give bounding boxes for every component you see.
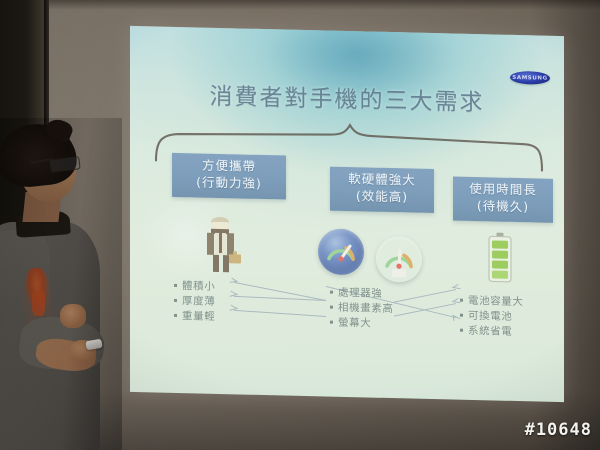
heading-line2: (效能高) <box>330 187 434 206</box>
bullet-column-performance: 處理器強 相機畫素高 螢幕大 <box>330 286 394 332</box>
photo-scene: SAMSUNG 消費者對手機的三大需求 方便攜帶 (行動力強) 軟硬體強大 (效… <box>0 0 600 450</box>
bullet-column-battery-life: 電池容量大 可換電池 系統省電 <box>460 294 524 340</box>
businessman-briefcase-icon <box>198 215 244 274</box>
bullet-dot-icon <box>174 299 177 302</box>
bullet-text: 系統省電 <box>468 325 512 338</box>
samsung-logo: SAMSUNG <box>510 71 550 85</box>
bullet-dot-icon <box>460 299 463 302</box>
presentation-slide: SAMSUNG 消費者對手機的三大需求 方便攜帶 (行動力強) 軟硬體強大 (效… <box>130 26 564 402</box>
bullet-text: 可換電池 <box>468 310 512 323</box>
bullet-dot-icon <box>174 314 177 317</box>
list-item: 體積小 <box>174 279 215 295</box>
bullet-column-portability: 體積小 厚度薄 重量輕 <box>174 279 215 325</box>
ceiling-shadow-band <box>48 0 600 10</box>
list-item: 系統省電 <box>460 324 524 340</box>
bullet-dot-icon <box>330 291 333 294</box>
presenter <box>0 118 122 450</box>
presenter-fist <box>60 304 86 328</box>
samsung-logo-text: SAMSUNG <box>512 75 547 82</box>
gauge-icon-blue <box>318 228 364 275</box>
bullet-dot-icon <box>330 306 333 309</box>
bullet-text: 螢幕大 <box>338 317 371 330</box>
list-item: 處理器強 <box>330 286 394 302</box>
bullet-dot-icon <box>174 284 177 287</box>
heading-line2: (行動力強) <box>172 173 286 192</box>
projection-screen: SAMSUNG 消費者對手機的三大需求 方便攜帶 (行動力強) 軟硬體強大 (效… <box>130 26 564 402</box>
list-item: 可換電池 <box>460 309 524 325</box>
bullet-dot-icon <box>460 314 463 317</box>
dual-gauge-icon <box>310 228 435 283</box>
bullet-row: 體積小 厚度薄 重量輕 處理器強 相機畫素高 螢幕大 電池容量大 可換電池 系統… <box>130 276 564 338</box>
heading-line2: (待機久) <box>453 197 553 216</box>
bullet-text: 重量輕 <box>182 310 215 323</box>
bullet-dot-icon <box>460 329 463 332</box>
gauge-icon-purple <box>376 236 422 283</box>
list-item: 電池容量大 <box>460 294 524 310</box>
bullet-text: 相機畫素高 <box>338 302 394 315</box>
list-item: 相機畫素高 <box>330 301 394 317</box>
list-item: 重量輕 <box>174 309 215 325</box>
bullet-text: 處理器強 <box>338 287 382 300</box>
bullet-dot-icon <box>330 321 333 324</box>
list-item: 厚度薄 <box>174 294 215 310</box>
icon-row <box>130 208 564 284</box>
heading-box-portability[interactable]: 方便攜帶 (行動力強) <box>172 153 286 200</box>
bullet-text: 厚度薄 <box>182 295 215 308</box>
list-item: 螢幕大 <box>330 316 394 332</box>
bullet-text: 體積小 <box>182 280 215 293</box>
image-watermark: #10648 <box>525 420 592 440</box>
presenter-shirt-graphic-detail <box>32 290 45 316</box>
bullet-text: 電池容量大 <box>468 295 524 308</box>
slide-title: 消費者對手機的三大需求 <box>130 75 564 119</box>
heading-box-row: 方便攜帶 (行動力強) 軟硬體強大 (效能高) 使用時間長 (待機久) <box>130 152 564 214</box>
heading-box-performance[interactable]: 軟硬體強大 (效能高) <box>330 167 434 213</box>
battery-icon <box>488 232 512 283</box>
